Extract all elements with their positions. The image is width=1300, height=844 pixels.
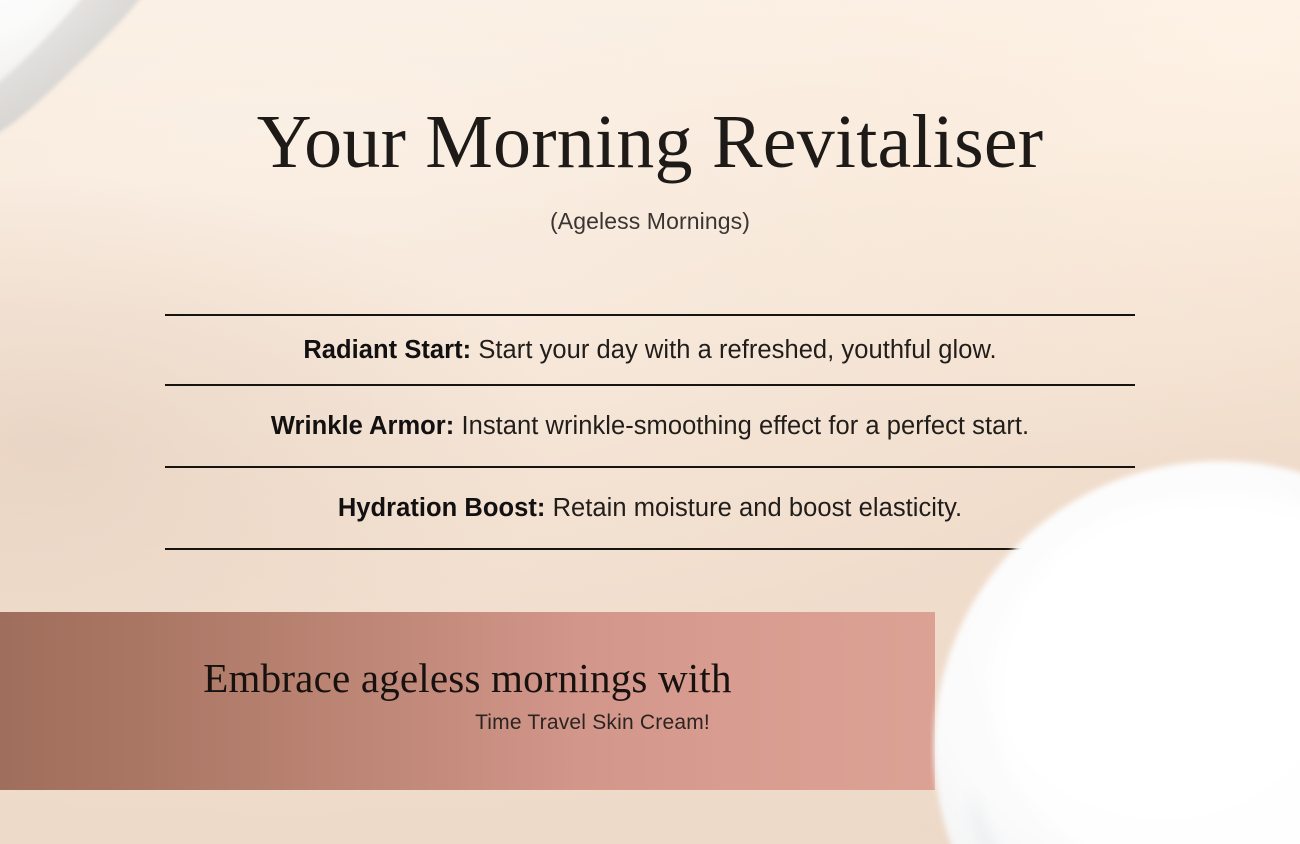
banner-content: Embrace ageless mornings with Time Trave…: [0, 612, 935, 790]
benefit-text: Radiant Start: Start your day with a ref…: [303, 336, 996, 365]
benefit-text: Hydration Boost: Retain moisture and boo…: [338, 494, 962, 523]
benefit-label: Wrinkle Armor:: [271, 412, 454, 440]
divider-bottom: [165, 548, 1065, 550]
page-subtitle: (Ageless Mornings): [0, 208, 1300, 235]
benefit-label: Hydration Boost:: [338, 494, 546, 522]
benefit-row: Hydration Boost: Retain moisture and boo…: [165, 468, 1135, 548]
benefit-description: Retain moisture and boost elasticity.: [553, 494, 963, 522]
benefit-description: Start your day with a refreshed, youthfu…: [478, 336, 996, 364]
banner-product-name: Time Travel Skin Cream!: [0, 711, 935, 735]
benefit-row: Radiant Start: Start your day with a ref…: [165, 316, 1135, 384]
poster-canvas: Your Morning Revitaliser (Ageless Mornin…: [0, 0, 1300, 844]
poster-header: Your Morning Revitaliser (Ageless Mornin…: [0, 104, 1300, 235]
call-to-action-banner: Embrace ageless mornings with Time Trave…: [0, 612, 935, 790]
benefit-label: Radiant Start:: [303, 336, 471, 364]
benefit-text: Wrinkle Armor: Instant wrinkle-smoothing…: [271, 412, 1029, 441]
benefits-list: Radiant Start: Start your day with a ref…: [165, 314, 1135, 550]
page-title: Your Morning Revitaliser: [0, 104, 1300, 180]
benefit-description: Instant wrinkle-smoothing effect for a p…: [461, 412, 1029, 440]
banner-headline: Embrace ageless mornings with: [0, 654, 935, 702]
benefit-row: Wrinkle Armor: Instant wrinkle-smoothing…: [165, 386, 1135, 466]
